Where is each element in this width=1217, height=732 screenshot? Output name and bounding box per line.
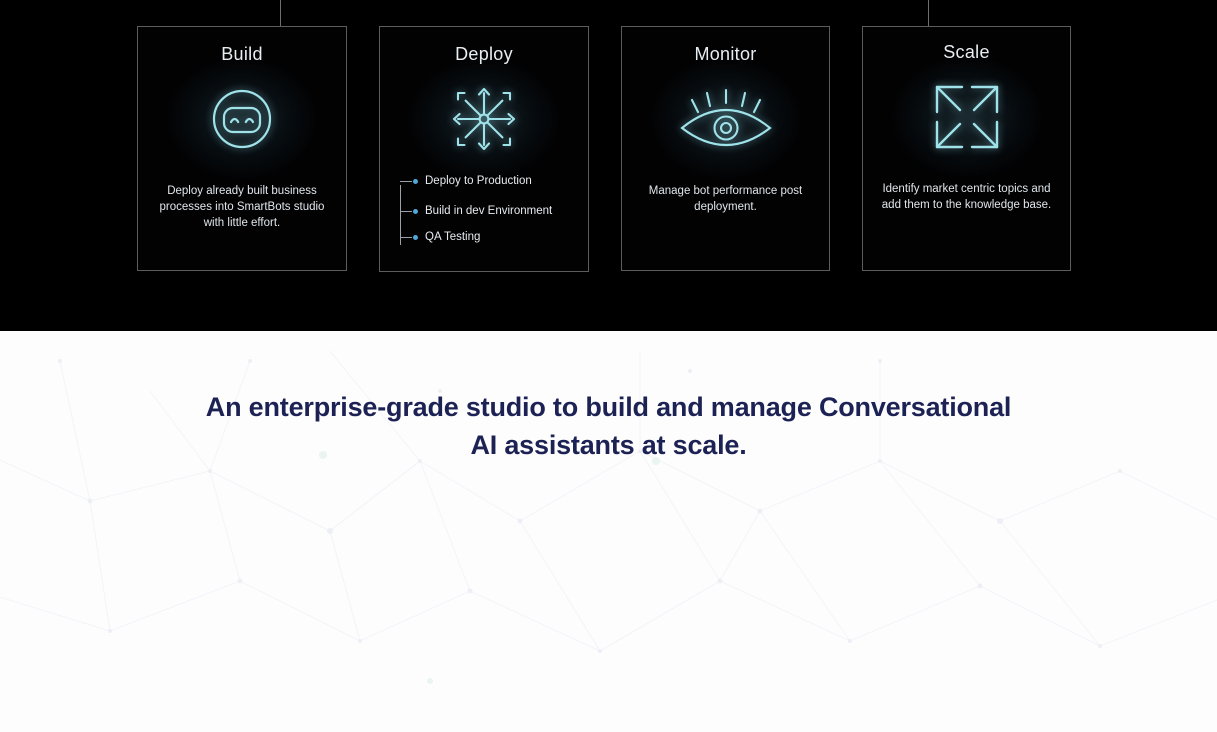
stage-description: Deploy already built business processes … [154, 183, 330, 231]
bullet-dot-icon [413, 235, 418, 240]
bullet-dot-icon [413, 179, 418, 184]
stage-description: Manage bot performance post deployment. [638, 183, 814, 215]
deploy-step-label: Deploy to Production [425, 175, 532, 187]
deploy-step-label: Build in dev Environment [425, 205, 552, 217]
stage-title: Scale [943, 42, 990, 63]
expand-arrows-star-icon [424, 79, 544, 159]
stage-description: Identify market centric topics and add t… [879, 181, 1055, 213]
robot-face-icon [182, 79, 302, 159]
stage-card-scale[interactable]: Scale Identify market centric topics and… [862, 26, 1071, 271]
deploy-step-item[interactable]: Deploy to Production [400, 175, 532, 187]
page-title: An enterprise-grade studio to build and … [199, 388, 1019, 464]
deploy-stub-line [400, 181, 412, 182]
stage-card-deploy[interactable]: Deploy Build in dev Environment [379, 26, 589, 272]
deploy-step-label: QA Testing [425, 231, 480, 243]
expand-corners-icon [907, 77, 1027, 157]
stage-card-build[interactable]: Build Deploy already built business proc… [137, 26, 347, 271]
stage-title: Deploy [455, 44, 513, 65]
deploy-stub-line [400, 211, 412, 212]
stage-title: Build [221, 44, 263, 65]
deploy-stub-line [400, 237, 412, 238]
stage-card-monitor[interactable]: Monitor Manage bot performance post depl… [621, 26, 830, 271]
top-connector-line-right [928, 0, 929, 26]
bullet-dot-icon [413, 209, 418, 214]
page-root: Build Deploy already built business proc… [0, 0, 1217, 732]
deploy-steps-list: Build in dev Environment QA Testing Depl… [396, 175, 572, 255]
deploy-step-item[interactable]: Build in dev Environment [400, 205, 552, 217]
stage-title: Monitor [694, 44, 756, 65]
eye-icon [666, 79, 786, 159]
top-connector-line-left [280, 0, 281, 26]
lifecycle-stages-section: Build Deploy already built business proc… [0, 0, 1217, 331]
deploy-step-item[interactable]: QA Testing [400, 231, 480, 243]
features-section: An enterprise-grade studio to build and … [0, 331, 1217, 732]
